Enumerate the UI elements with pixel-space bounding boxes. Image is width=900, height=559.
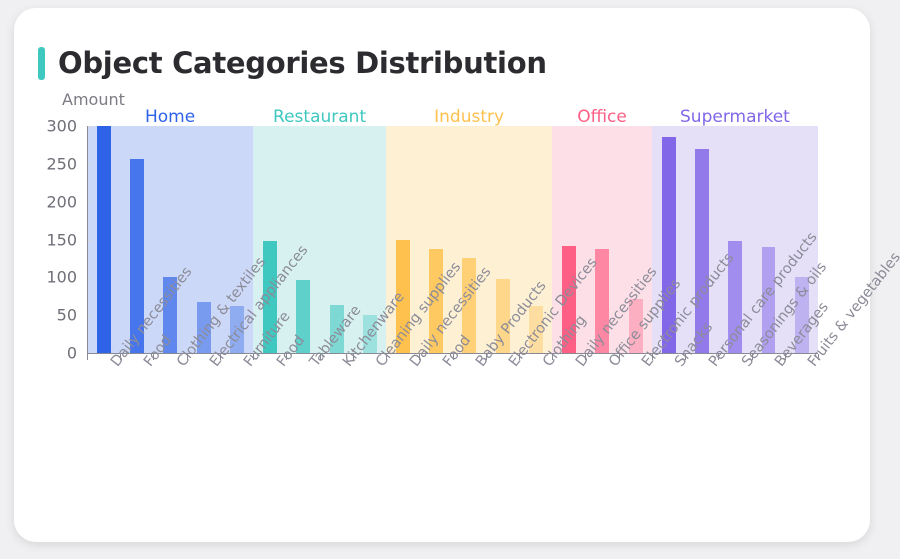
y-tick-label: 50 [57,306,77,325]
y-tick-label: 300 [46,117,77,136]
group-label-industry: Industry [434,107,504,127]
group-label-row: HomeRestaurantIndustryOfficeSupermarket [87,107,818,127]
chart-plot-area: Amount HomeRestaurantIndustryOfficeSuper… [14,8,870,542]
group-label-office: Office [577,107,627,127]
group-label-supermarket: Supermarket [680,107,790,127]
y-axis: 050100150200250300 [14,118,85,361]
y-tick-label: 0 [67,344,77,363]
y-tick-label: 100 [46,268,77,287]
x-tick [87,354,88,360]
group-label-restaurant: Restaurant [273,107,366,127]
y-tick-label: 150 [46,230,77,249]
chart-card: Object Categories Distribution Amount Ho… [14,8,870,542]
y-tick-label: 250 [46,154,77,173]
bar[interactable] [97,126,111,353]
group-label-home: Home [145,107,195,127]
y-tick-label: 200 [46,192,77,211]
